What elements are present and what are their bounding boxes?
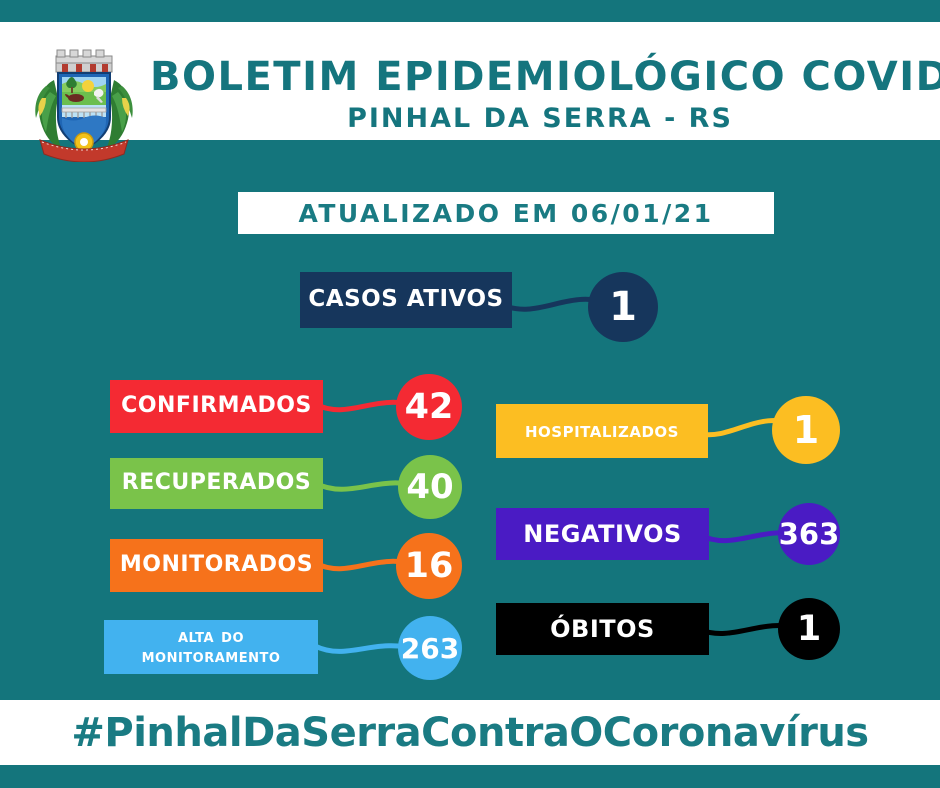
covid-bulletin-poster: BOLETIM EPIDEMIOLÓGICO COVID-19 PINHAL D…: [0, 0, 940, 788]
stat-label-hospitalizados: Hospitalizados: [525, 420, 679, 443]
stat-value-recuperados[interactable]: 40: [398, 455, 462, 519]
stat-bar-casos-ativos[interactable]: CASOS ATIVOS: [300, 272, 512, 328]
updated-date-label: ATUALIZADO EM 06/01/21: [298, 199, 713, 228]
stat-label-confirmados: CONFIRMADOS: [121, 395, 312, 418]
stat-bar-recuperados[interactable]: RECUPERADOS: [110, 458, 323, 509]
stat-negativos: NEGATIVOS 363: [496, 503, 840, 565]
stat-label-recuperados: RECUPERADOS: [122, 472, 311, 495]
page-title: BOLETIM EPIDEMIOLÓGICO COVID-19: [150, 52, 930, 102]
top-teal-strip: [0, 0, 940, 22]
stat-monitorados: MONITORADOS 16: [110, 533, 462, 599]
stat-bar-alta-do-monitoramento[interactable]: Alta do monitoramento: [104, 620, 318, 674]
stat-label-obitos: ÓBITOS: [550, 617, 655, 642]
stat-obitos: ÓBITOS 1: [496, 598, 840, 660]
header-band: BOLETIM EPIDEMIOLÓGICO COVID-19 PINHAL D…: [0, 22, 940, 140]
stat-hospitalizados: Hospitalizados 1: [496, 396, 840, 464]
stat-recuperados: RECUPERADOS 40: [110, 455, 462, 519]
stat-alta-do-monitoramento: Alta do monitoramento 263: [104, 616, 462, 680]
city-coat-of-arms-icon: [28, 46, 140, 162]
stat-label-alta-do-monitoramento: Alta do monitoramento: [142, 627, 281, 667]
stat-value-hospitalizados[interactable]: 1: [772, 396, 840, 464]
stat-bar-monitorados[interactable]: MONITORADOS: [110, 539, 323, 592]
stat-bar-negativos[interactable]: NEGATIVOS: [496, 508, 709, 560]
stat-value-monitorados[interactable]: 16: [396, 533, 462, 599]
stat-casos-ativos: CASOS ATIVOS 1: [300, 272, 660, 342]
bottom-teal-strip: [0, 765, 940, 788]
stat-bar-confirmados[interactable]: CONFIRMADOS: [110, 380, 323, 433]
stat-label-monitorados: MONITORADOS: [120, 554, 313, 577]
stat-bar-hospitalizados[interactable]: Hospitalizados: [496, 404, 708, 458]
stat-bar-obitos[interactable]: ÓBITOS: [496, 603, 709, 655]
stat-confirmados: CONFIRMADOS 42: [110, 374, 462, 440]
stat-label-negativos: NEGATIVOS: [523, 522, 682, 547]
updated-date-bar: ATUALIZADO EM 06/01/21: [238, 192, 774, 234]
stat-value-negativos[interactable]: 363: [778, 503, 840, 565]
stat-label-casos-ativos: CASOS ATIVOS: [308, 288, 503, 312]
stat-value-alta-do-monitoramento[interactable]: 263: [398, 616, 462, 680]
stat-value-casos-ativos[interactable]: 1: [588, 272, 658, 342]
stat-value-obitos[interactable]: 1: [778, 598, 840, 660]
footer-hashtag: #PinhalDaSerraContraOCoronavírus: [71, 710, 868, 756]
footer-band: #PinhalDaSerraContraOCoronavírus: [0, 700, 940, 765]
header-titles: BOLETIM EPIDEMIOLÓGICO COVID-19 PINHAL D…: [150, 46, 930, 158]
stat-value-confirmados[interactable]: 42: [396, 374, 462, 440]
page-subtitle: PINHAL DA SERRA - RS: [150, 102, 930, 135]
